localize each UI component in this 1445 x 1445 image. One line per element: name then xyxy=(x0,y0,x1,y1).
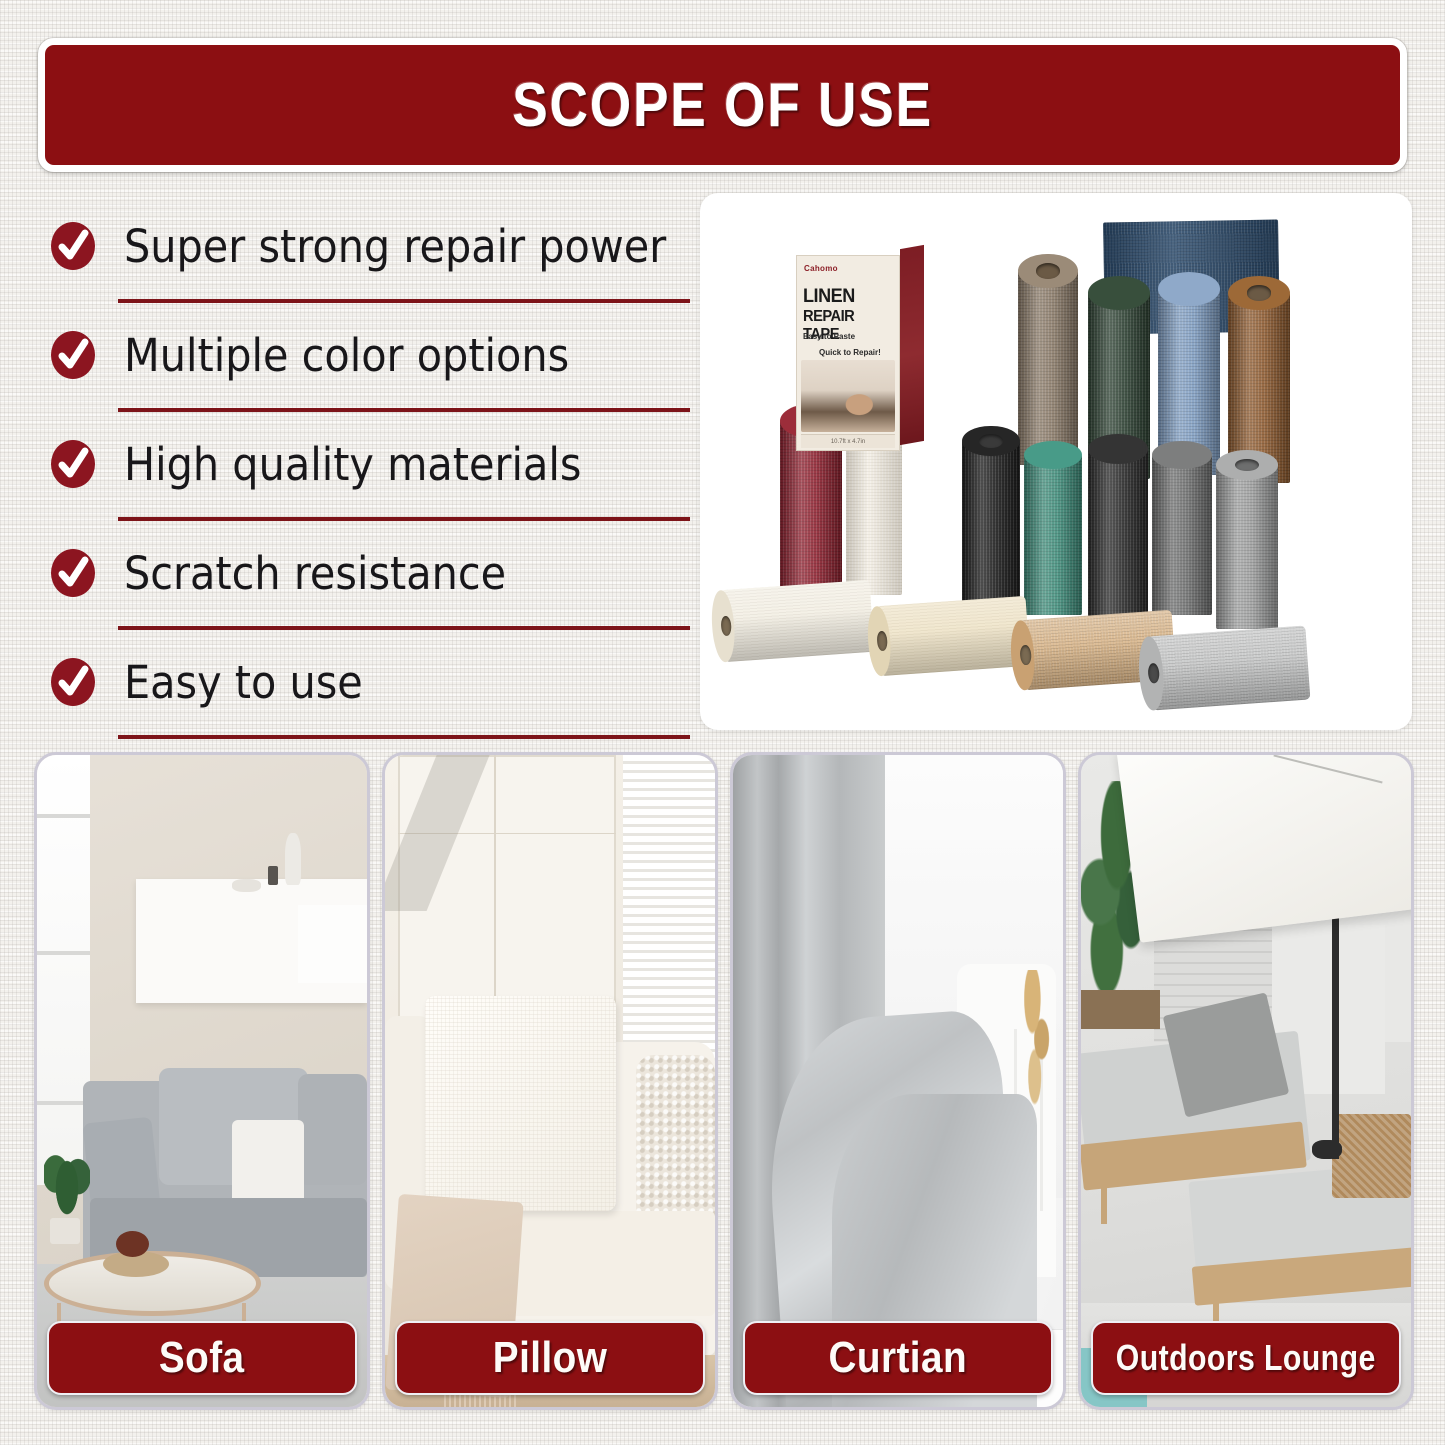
box-size-text: 10.7ft x 4.7in xyxy=(801,434,895,448)
header-banner: SCOPE OF USE xyxy=(38,38,1407,172)
product-arrangement: Cahomo LINEN REPAIR TAPE Easy to Paste Q… xyxy=(700,193,1412,730)
check-circle-icon xyxy=(50,439,96,489)
scene-label-badge: Curtian xyxy=(743,1321,1053,1395)
feature-item: High quality materials xyxy=(40,414,690,523)
cream-roll xyxy=(876,596,1031,676)
brand-logo: Cahomo xyxy=(804,264,838,273)
pillow-scene-illustration xyxy=(385,755,715,1407)
check-circle-icon xyxy=(50,548,96,598)
box-front-panel: Cahomo LINEN REPAIR TAPE Easy to Paste Q… xyxy=(796,255,900,451)
box-side-panel xyxy=(900,245,924,445)
scene-card-sofa[interactable]: Sofa xyxy=(34,752,370,1410)
check-circle-icon xyxy=(50,221,96,271)
feature-separator xyxy=(118,626,690,630)
outdoors-lounge-scene-illustration xyxy=(1081,755,1411,1407)
page-title: SCOPE OF USE xyxy=(512,70,933,141)
scene-label: Outdoors Lounge xyxy=(1116,1337,1376,1379)
taupe-roll xyxy=(1018,271,1078,465)
scene-label: Sofa xyxy=(159,1333,245,1383)
feature-separator xyxy=(118,408,690,412)
scene-card-pillow[interactable]: Pillow xyxy=(382,752,718,1410)
silver-roll xyxy=(1148,626,1311,711)
product-photo-panel: Cahomo LINEN REPAIR TAPE Easy to Paste Q… xyxy=(700,193,1412,730)
feature-label: Scratch resistance xyxy=(124,547,506,600)
scene-card-curtain[interactable]: Curtian xyxy=(730,752,1066,1410)
white-roll xyxy=(720,580,875,662)
scene-label: Pillow xyxy=(493,1333,608,1383)
infographic-page: SCOPE OF USE Super strong repair power M… xyxy=(0,0,1445,1445)
charcoal-roll xyxy=(1088,449,1148,617)
product-package-box: Cahomo LINEN REPAIR TAPE Easy to Paste Q… xyxy=(796,255,924,451)
feature-item: Multiple color options xyxy=(40,305,690,414)
scene-label: Curtian xyxy=(829,1333,968,1383)
box-title-line1: LINEN xyxy=(803,286,855,308)
use-case-gallery: Sofa Pillow xyxy=(34,752,1414,1410)
feature-list: Super strong repair power Multiple color… xyxy=(40,196,690,741)
scene-label-badge: Sofa xyxy=(47,1321,357,1395)
teal-roll xyxy=(1024,455,1082,615)
feature-label: Multiple color options xyxy=(124,329,569,382)
scene-card-outdoors-lounge[interactable]: Outdoors Lounge xyxy=(1078,752,1414,1410)
feature-item: Easy to use xyxy=(40,632,690,741)
feature-item: Super strong repair power xyxy=(40,196,690,305)
check-circle-icon xyxy=(50,657,96,707)
light-gray-roll xyxy=(1216,465,1278,629)
feature-item: Scratch resistance xyxy=(40,523,690,632)
sofa-scene-illustration xyxy=(37,755,367,1407)
box-tagline-2: Quick to Repair! xyxy=(819,348,881,357)
scene-label-badge: Pillow xyxy=(395,1321,705,1395)
feature-label: High quality materials xyxy=(124,438,581,491)
check-circle-icon xyxy=(50,330,96,380)
feature-separator xyxy=(118,299,690,303)
black-roll xyxy=(962,441,1020,613)
box-tagline-1: Easy to Paste xyxy=(803,332,855,341)
feature-separator xyxy=(118,735,690,739)
feature-label: Super strong repair power xyxy=(124,220,666,273)
curtain-scene-illustration xyxy=(733,755,1063,1407)
dark-gray-roll xyxy=(1152,455,1212,615)
feature-label: Easy to use xyxy=(124,656,363,709)
scene-label-badge: Outdoors Lounge xyxy=(1091,1321,1401,1395)
feature-separator xyxy=(118,517,690,521)
box-photo xyxy=(801,360,895,432)
